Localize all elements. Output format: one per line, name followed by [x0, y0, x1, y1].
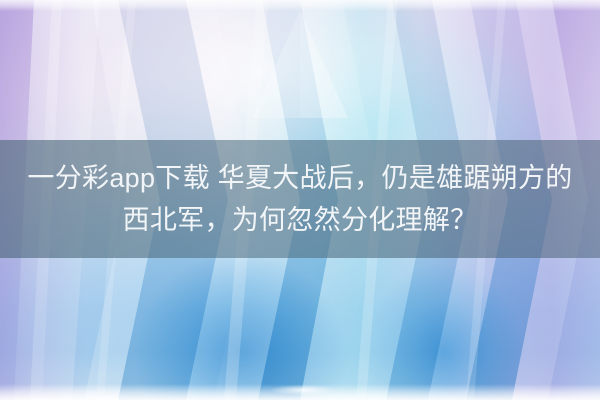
article-banner: 一分彩app下载 华夏大战后，仍是雄踞朔方的 西北军，为何忽然分化理解？: [0, 0, 600, 400]
bottom-watermark: [258, 384, 348, 396]
top-light-strip: [0, 0, 600, 11]
caption-band: 一分彩app下载 华夏大战后，仍是雄踞朔方的 西北军，为何忽然分化理解？: [0, 140, 600, 258]
caption-line-2: 西北军，为何忽然分化理解？: [123, 200, 478, 240]
caption-line-1: 一分彩app下载 华夏大战后，仍是雄踞朔方的: [27, 158, 572, 198]
